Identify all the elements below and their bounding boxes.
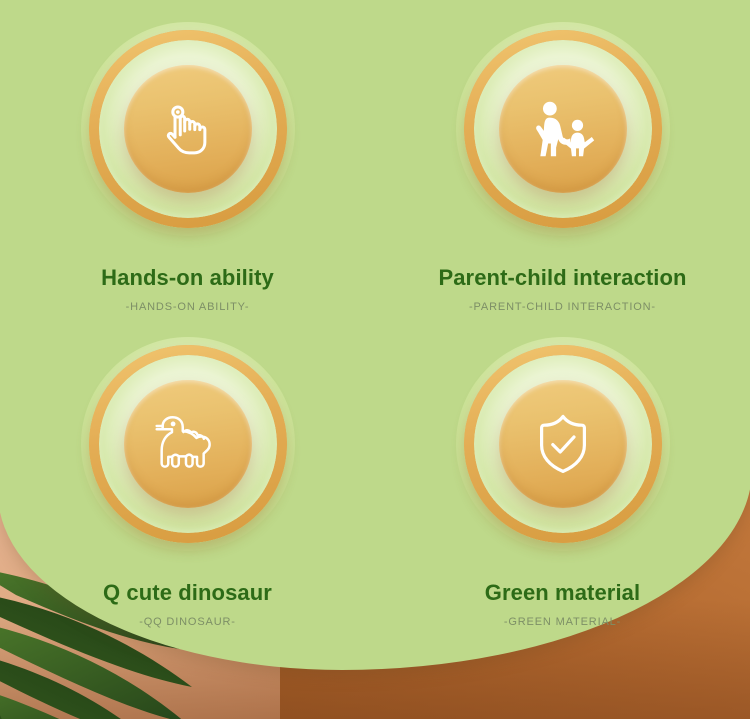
feature-caption: Green material -GREEN MATERIAL- <box>375 581 750 628</box>
feature-title: Hands-on ability <box>0 266 375 290</box>
medallion-green-material <box>450 331 676 557</box>
feature-title: Green material <box>375 581 750 605</box>
feature-caption: Parent-child interaction -PARENT-CHILD I… <box>375 266 750 313</box>
feature-caption: Hands-on ability -HANDS-ON ABILITY- <box>0 266 375 313</box>
tap-hand-icon <box>157 98 219 160</box>
feature-title: Q cute dinosaur <box>0 581 375 605</box>
dinosaur-icon <box>153 412 223 476</box>
feature-subtitle: -HANDS-ON ABILITY- <box>0 301 375 313</box>
medallion-disc <box>124 65 252 193</box>
feature-subtitle: -GREEN MATERIAL- <box>375 616 750 628</box>
medallion-disc <box>499 380 627 508</box>
medallion-disc <box>499 65 627 193</box>
product-feature-banner: Hands-on ability -HANDS-ON ABILITY- <box>0 0 750 719</box>
feature-item-green-material[interactable]: Green material -GREEN MATERIAL- <box>375 331 750 646</box>
feature-subtitle: -QQ DINOSAUR- <box>0 616 375 628</box>
parent-child-icon <box>530 100 596 158</box>
feature-grid: Hands-on ability -HANDS-ON ABILITY- <box>0 0 750 660</box>
medallion-hands-on-ability <box>75 16 301 242</box>
shield-check-icon <box>533 412 593 476</box>
feature-item-parent-child-interaction[interactable]: Parent-child interaction -PARENT-CHILD I… <box>375 16 750 331</box>
feature-item-q-cute-dinosaur[interactable]: Q cute dinosaur -QQ DINOSAUR- <box>0 331 375 646</box>
feature-title: Parent-child interaction <box>375 266 750 290</box>
medallion-parent-child-interaction <box>450 16 676 242</box>
feature-subtitle: -PARENT-CHILD INTERACTION- <box>375 301 750 313</box>
medallion-disc <box>124 380 252 508</box>
feature-item-hands-on-ability[interactable]: Hands-on ability -HANDS-ON ABILITY- <box>0 16 375 331</box>
medallion-q-cute-dinosaur <box>75 331 301 557</box>
feature-caption: Q cute dinosaur -QQ DINOSAUR- <box>0 581 375 628</box>
